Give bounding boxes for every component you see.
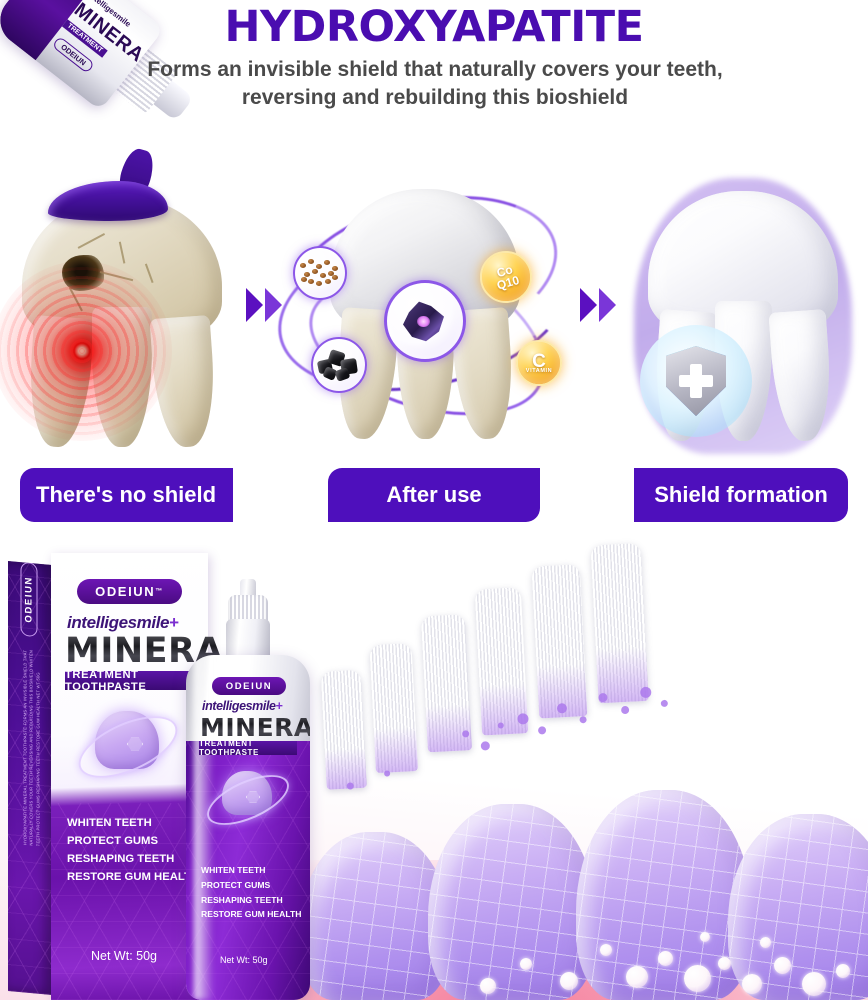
box-side-panel: ODEIUN HYDROXYAPATITE MINERAL TREATMENT …: [8, 561, 52, 995]
box-net-weight: Net Wt: 50g: [91, 949, 157, 963]
page-title: HYDROXYAPATITE: [0, 2, 868, 52]
box-sub-brand-plus: +: [169, 613, 179, 632]
bottle-net-weight: Net Wt: 50g: [220, 955, 268, 965]
box-brand-label: ODEIUN: [95, 584, 155, 599]
comparison-panels: Co Q10 C VITAMIN: [0, 175, 868, 475]
decayed-tooth-icon: [22, 197, 222, 447]
caption-label-after: Shield formation: [654, 482, 828, 508]
bottle-product-type: TREATMENT TOOTHPASTE: [199, 741, 297, 755]
caption-label-before: There's no shield: [36, 482, 216, 508]
plus-cross-icon: [679, 364, 713, 398]
ingredient-charcoal-bubble: [311, 337, 367, 393]
page-subtitle: Forms an invisible shield that naturally…: [110, 56, 760, 111]
bottle-sub-brand: intelligesmile+: [202, 699, 283, 713]
toothbrush-icon: [313, 535, 744, 771]
benefit-item: PROTECT GUMS: [201, 878, 301, 893]
caption-badges: There's no shield After use Shield forma…: [0, 468, 868, 526]
bottle-product-name: MINERAL: [200, 713, 310, 742]
product-box: ODEIUN HYDROXYAPATITE MINERAL TREATMENT …: [8, 553, 208, 1000]
cavity-icon: [62, 255, 104, 291]
caption-badge-during: After use: [328, 468, 540, 522]
arrow-right-2: [580, 288, 616, 322]
box-trademark: ™: [155, 588, 164, 595]
arrow-right-1: [246, 288, 282, 322]
header: HYDROXYAPATITE Forms an invisible shield…: [0, 0, 868, 125]
box-sub-brand: intelligesmile+: [67, 613, 179, 633]
box-sub-brand-label: intelligesmile: [67, 613, 169, 632]
ingredient-vitaminc-bubble: C VITAMIN: [516, 340, 562, 386]
benefit-item: WHITEN TEETH: [67, 815, 199, 833]
charcoal-icon: [316, 348, 362, 382]
bottle-brand-label: ODEIUN: [226, 681, 273, 692]
box-side-text: HYDROXYAPATITE MINERAL TREATMENT TOOTHPA…: [22, 649, 41, 847]
box-brand-pill: ODEIUN™: [77, 579, 182, 604]
bottle-benefit-list: WHITEN TEETH PROTECT GUMS RESHAPING TEET…: [201, 863, 301, 922]
box-product-type: TREATMENT TOOTHPASTE: [65, 671, 197, 690]
benefit-item: RESTORE GUM HEALTH: [201, 907, 301, 922]
benefit-item: RESHAPING TEETH: [67, 851, 199, 869]
caption-badge-before: There's no shield: [20, 468, 233, 522]
product-scene: ODEIUN HYDROXYAPATITE MINERAL TREATMENT …: [0, 535, 868, 1000]
ingredient-seeds-bubble: [293, 246, 347, 300]
box-benefit-list: WHITEN TEETH PROTECT GUMS RESHAPING TEET…: [67, 815, 199, 886]
bottle-brand-pill: ODEIUN: [212, 677, 286, 695]
product-bottle: ODEIUN intelligesmile+ MINERAL TREATMENT…: [186, 595, 310, 1000]
caption-label-during: After use: [386, 482, 481, 508]
shield-icon: [666, 346, 726, 416]
bottle-body: ODEIUN intelligesmile+ MINERAL TREATMENT…: [186, 655, 310, 1000]
shield-badge: [640, 325, 752, 437]
benefit-item: RESTORE GUM HEALTH: [67, 869, 199, 887]
box-side-brand: ODEIUN: [21, 562, 38, 638]
benefit-item: WHITEN TEETH: [201, 863, 301, 878]
box-front-panel: ODEIUN™ intelligesmile+ MINERAL TREATMEN…: [51, 553, 208, 1000]
tooth-blob: [428, 804, 596, 1000]
mineral-crystal-icon: [400, 299, 450, 343]
ingredient-mineral-bubble: [384, 280, 466, 362]
bottle-sub-brand-label: intelligesmile: [202, 699, 276, 713]
ingredient-coq10-bubble: Co Q10: [480, 251, 532, 303]
benefit-item: PROTECT GUMS: [67, 833, 199, 851]
caption-badge-after: Shield formation: [634, 468, 848, 522]
vitaminc-sublabel: VITAMIN: [526, 369, 552, 375]
benefit-item: RESHAPING TEETH: [201, 893, 301, 908]
seeds-icon: [298, 257, 342, 289]
